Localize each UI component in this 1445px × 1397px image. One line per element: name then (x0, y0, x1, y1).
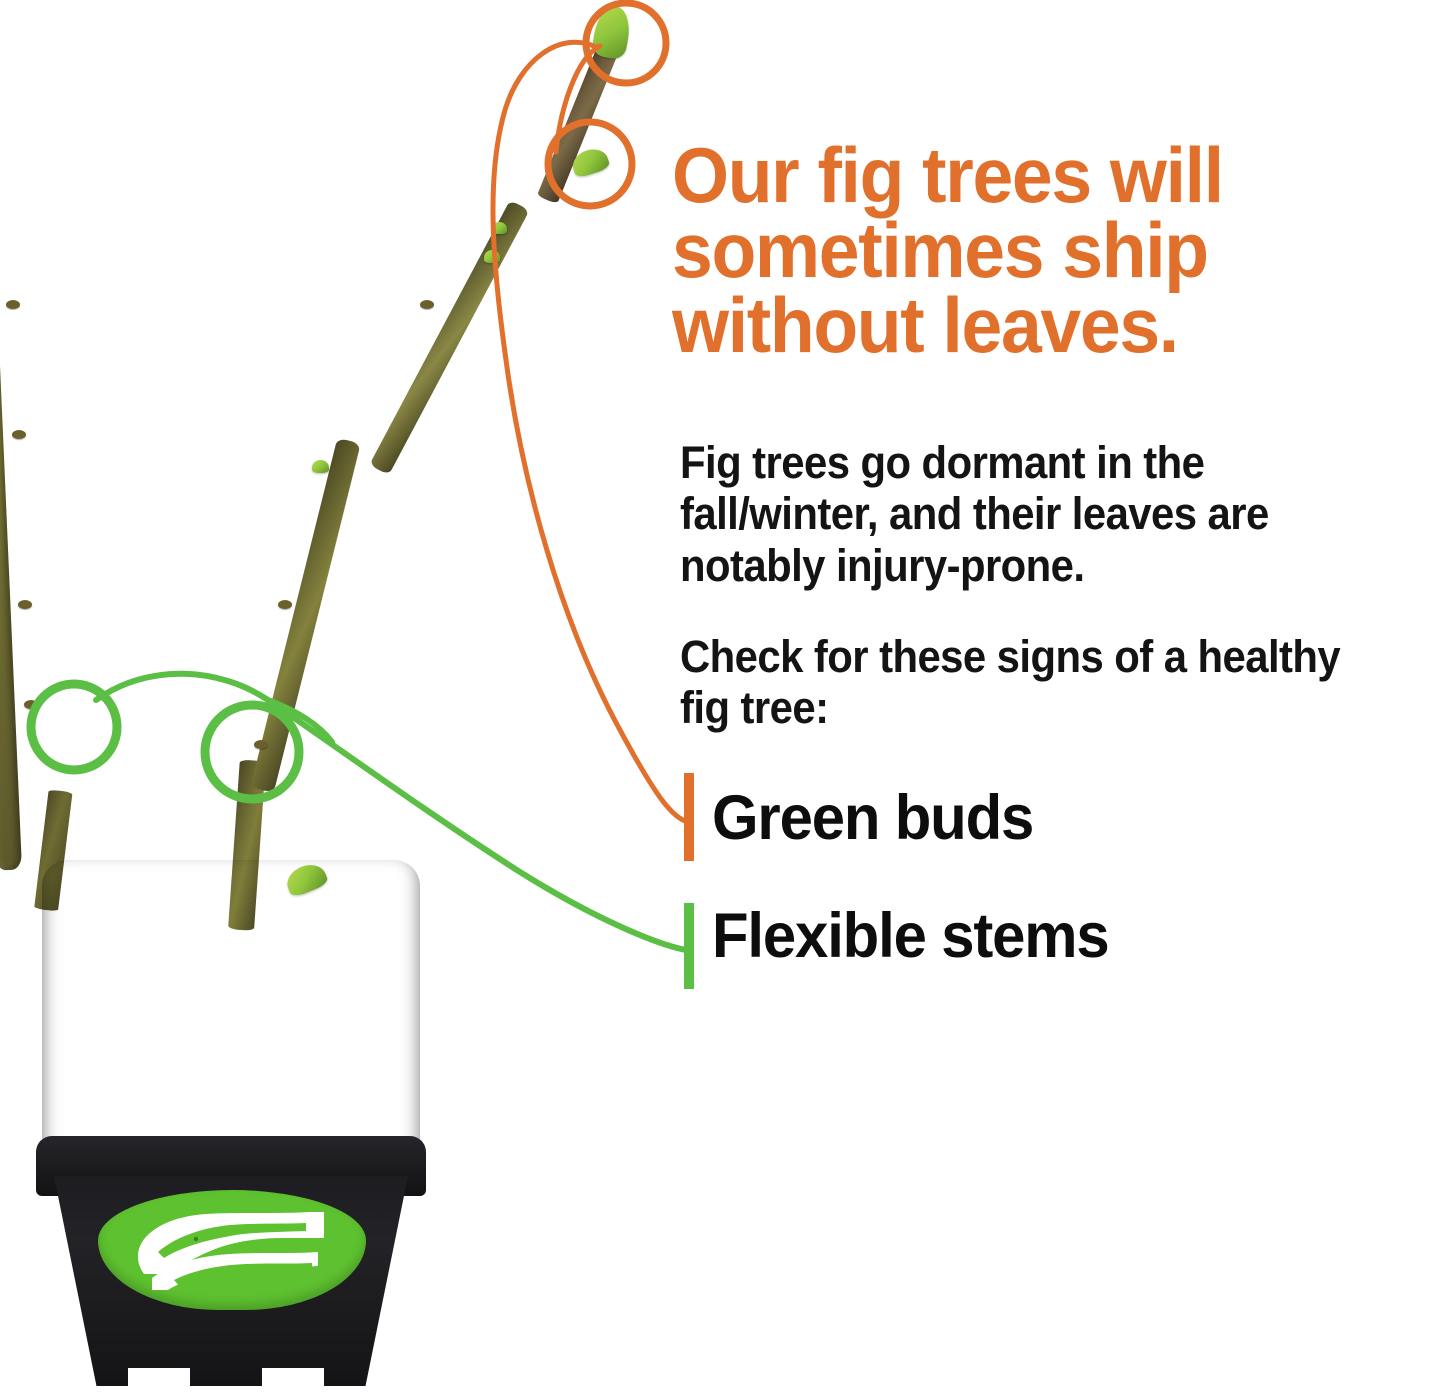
green-bud-circle-upper (586, 3, 666, 83)
signal-label-green-buds: Green buds (712, 787, 1033, 850)
body-paragraph-dormancy: Fig trees go dormant in the fall/winter,… (680, 437, 1368, 591)
green-leader-line (96, 674, 686, 950)
text-column: Our fig trees will sometimes ship withou… (672, 0, 1432, 1397)
flexible-stem-circle-left (31, 684, 117, 770)
infographic-canvas: Our fig trees will sometimes ship withou… (0, 0, 1445, 1397)
orange-leader-line (493, 42, 688, 822)
green-bud-circle-lower (548, 122, 632, 206)
signal-label-flexible-stems: Flexible stems (712, 905, 1109, 968)
page-title: Our fig trees will sometimes ship withou… (672, 138, 1394, 363)
body-paragraph-check: Check for these signs of a healthy fig t… (680, 631, 1368, 734)
flexible-stem-circle-right (205, 705, 299, 799)
